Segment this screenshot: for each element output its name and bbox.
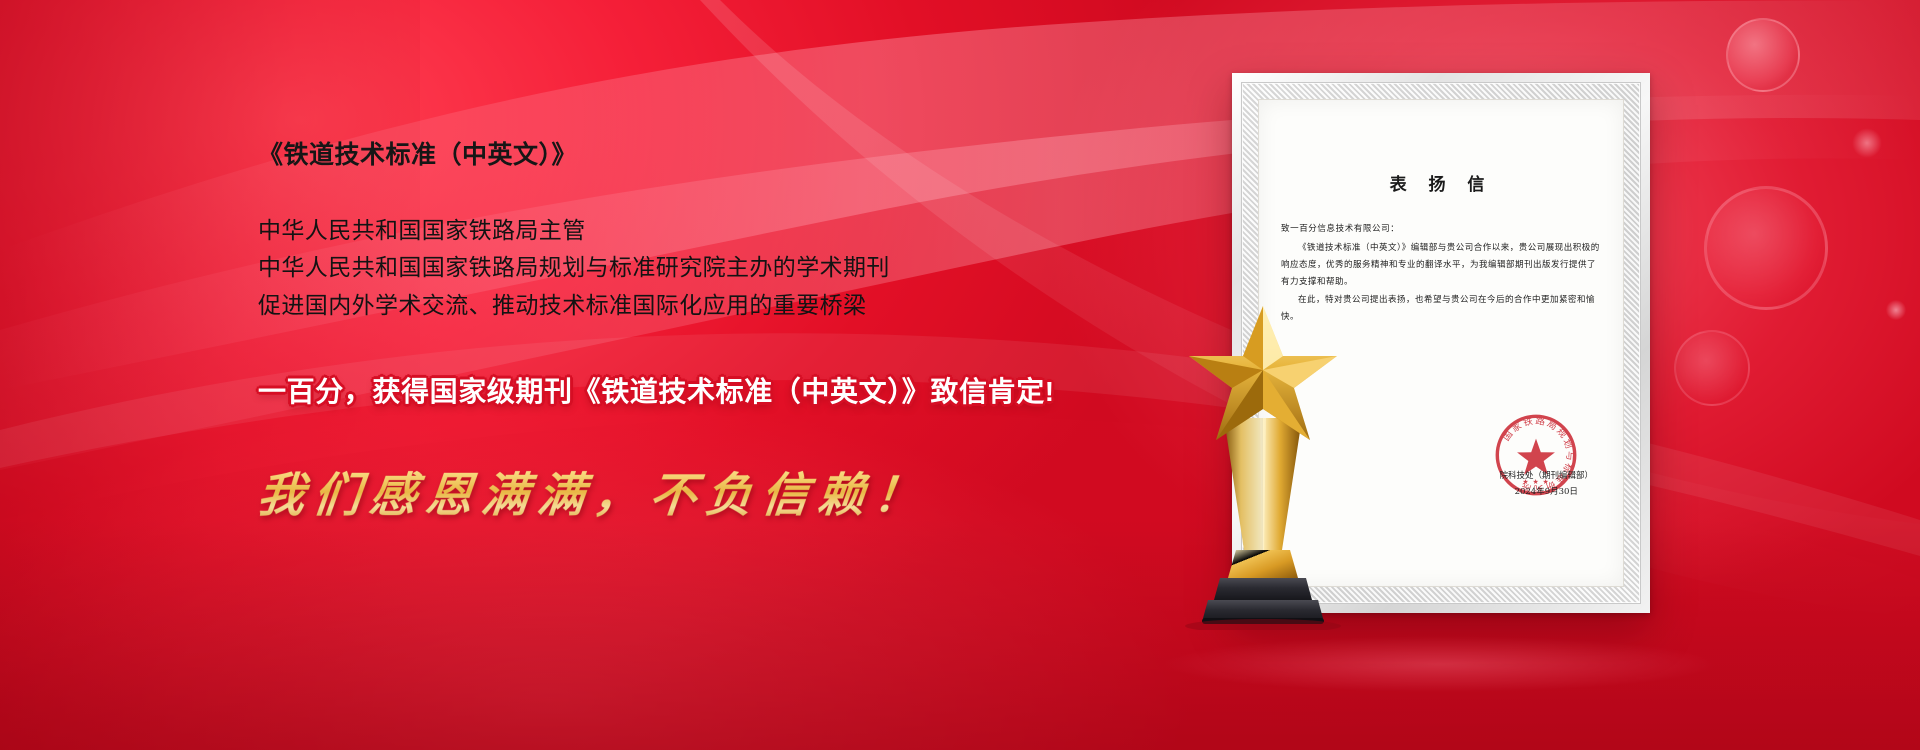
bokeh-circle (1704, 186, 1828, 310)
description-list: 中华人民共和国国家铁路局主管 中华人民共和国国家铁路局规划与标准研究院主办的学术… (258, 212, 1198, 324)
copy-block: 《铁道技术标准（中英文）》 中华人民共和国国家铁路局主管 中华人民共和国国家铁路… (258, 140, 1198, 525)
bokeh-circle (1852, 128, 1882, 158)
bokeh-circle (1886, 300, 1906, 320)
certificate-signature: 院科技处（期刊编辑部） 2024年9月30日 (1499, 468, 1593, 500)
certificate-paragraph: 《铁道技术标准（中英文）》编辑部与贵公司合作以来，贵公司展现出积极的响应态度，优… (1281, 240, 1601, 292)
description-line: 促进国内外学术交流、推动技术标准国际化应用的重要桥梁 (258, 287, 1198, 324)
signature-date: 2024年9月30日 (1499, 484, 1593, 500)
description-line: 中华人民共和国国家铁路局主管 (258, 212, 1198, 249)
bokeh-circle (1726, 18, 1800, 92)
award-headline: 一百分，获得国家级期刊《铁道技术标准（中英文）》致信肯定! (258, 370, 1198, 410)
floor-glow (1160, 636, 1720, 692)
journal-title: 《铁道技术标准（中英文）》 (258, 140, 1198, 170)
banner-stage: 《铁道技术标准（中英文）》 中华人民共和国国家铁路局主管 中华人民共和国国家铁路… (0, 0, 1920, 750)
star-trophy-icon (1148, 300, 1338, 610)
certificate-title: 表 扬 信 (1281, 170, 1601, 195)
description-line: 中华人民共和国国家铁路局规划与标准研究院主办的学术期刊 (258, 249, 1198, 286)
signature-org: 院科技处（期刊编辑部） (1499, 468, 1593, 484)
certificate-salutation: 致一百分信息技术有限公司： (1281, 221, 1601, 238)
calligraphy-slogan: 我们感恩满满，不负信赖！ (254, 456, 1201, 525)
bokeh-circle (1674, 330, 1750, 406)
